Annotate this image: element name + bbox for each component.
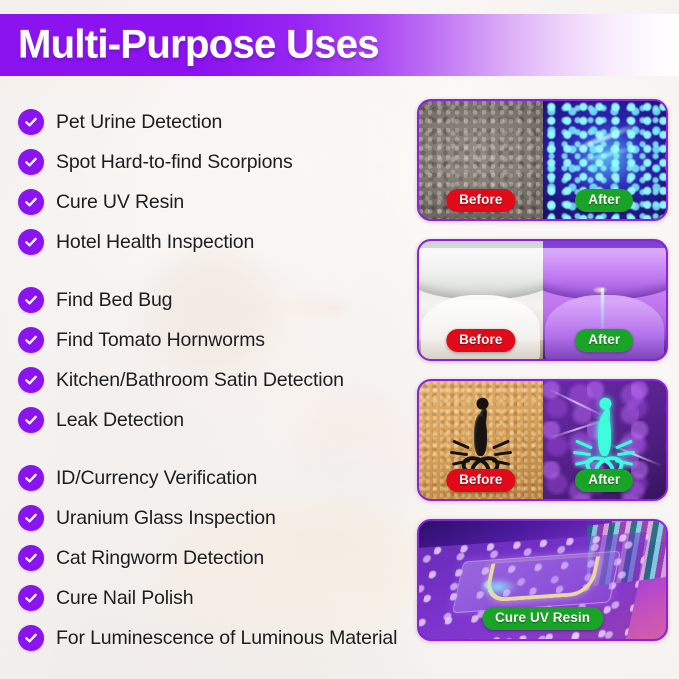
list-item: Leak Detection <box>0 400 420 440</box>
check-circle-icon <box>18 367 44 393</box>
list-item-label: Kitchen/Bathroom Satin Detection <box>56 369 344 392</box>
header-banner: Multi-Purpose Uses <box>0 14 679 76</box>
cure-uv-resin-badge: Cure UV Resin <box>482 607 603 630</box>
list-item: Cure Nail Polish <box>0 578 420 618</box>
list-item-label: For Luminescence of Luminous Material <box>56 627 397 650</box>
check-circle-icon <box>18 585 44 611</box>
list-item-label: Cure UV Resin <box>56 191 184 214</box>
comparison-card-toilet: Before After <box>417 239 668 361</box>
feature-group-1: Pet Urine Detection Spot Hard-to-find Sc… <box>0 102 420 262</box>
list-item-label: Find Tomato Hornworms <box>56 329 265 352</box>
toilet-before-photo <box>419 241 543 359</box>
carpet-before-photo <box>419 101 543 219</box>
check-circle-icon <box>18 189 44 215</box>
list-item-label: Hotel Health Inspection <box>56 231 254 254</box>
check-circle-icon <box>18 505 44 531</box>
toilet-after-uv-photo <box>543 241 667 359</box>
feature-group-2: Find Bed Bug Find Tomato Hornworms Kitch… <box>0 280 420 440</box>
list-item: ID/Currency Verification <box>0 458 420 498</box>
product-feature-infographic: Multi-Purpose Uses Pet Urine Detection S… <box>0 0 679 679</box>
comparison-card-scorpion: Before After <box>417 379 668 501</box>
comparison-card-carpet: Before After <box>417 99 668 221</box>
check-circle-icon <box>18 545 44 571</box>
check-circle-icon <box>18 109 44 135</box>
list-item: Uranium Glass Inspection <box>0 498 420 538</box>
list-item-label: Pet Urine Detection <box>56 111 222 134</box>
scorpion-before-photo <box>419 381 543 499</box>
list-item-label: Cure Nail Polish <box>56 587 193 610</box>
list-item: Spot Hard-to-find Scorpions <box>0 142 420 182</box>
check-circle-icon <box>18 407 44 433</box>
list-item: Hotel Health Inspection <box>0 222 420 262</box>
list-item-label: ID/Currency Verification <box>56 467 257 490</box>
list-item-label: Leak Detection <box>56 409 184 432</box>
check-circle-icon <box>18 229 44 255</box>
list-item: Cure UV Resin <box>0 182 420 222</box>
feature-card-uv-resin: Cure UV Resin <box>417 519 668 641</box>
feature-group-3: ID/Currency Verification Uranium Glass I… <box>0 458 420 658</box>
check-circle-icon <box>18 625 44 651</box>
list-item: Find Tomato Hornworms <box>0 320 420 360</box>
check-circle-icon <box>18 149 44 175</box>
scorpion-after-uv-photo <box>543 381 667 499</box>
carpet-after-uv-photo <box>543 101 667 219</box>
list-item-label: Uranium Glass Inspection <box>56 507 276 530</box>
list-item: Pet Urine Detection <box>0 102 420 142</box>
check-circle-icon <box>18 465 44 491</box>
feature-list: Pet Urine Detection Spot Hard-to-find Sc… <box>0 102 420 658</box>
page-title: Multi-Purpose Uses <box>18 23 379 68</box>
list-item: Find Bed Bug <box>0 280 420 320</box>
check-circle-icon <box>18 327 44 353</box>
list-item: For Luminescence of Luminous Material <box>0 618 420 658</box>
list-item: Cat Ringworm Detection <box>0 538 420 578</box>
comparison-card-list: Before After <box>417 99 668 641</box>
list-item-label: Spot Hard-to-find Scorpions <box>56 151 293 174</box>
list-item-label: Find Bed Bug <box>56 289 172 312</box>
list-item: Kitchen/Bathroom Satin Detection <box>0 360 420 400</box>
check-circle-icon <box>18 287 44 313</box>
list-item-label: Cat Ringworm Detection <box>56 547 264 570</box>
